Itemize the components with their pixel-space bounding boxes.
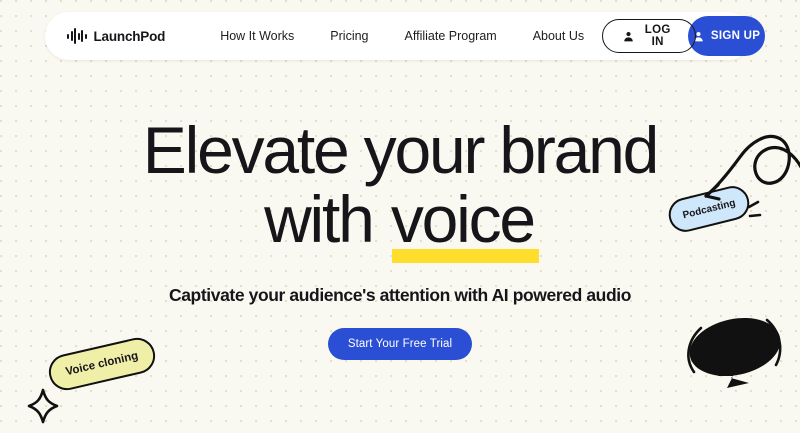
audio-waveform-icon — [67, 28, 87, 44]
nav-link-affiliate-program[interactable]: Affiliate Program — [387, 29, 515, 43]
hero-section: Elevate your brand with voice Captivate … — [0, 118, 800, 360]
headline-line-2-prefix: with — [264, 182, 389, 256]
badge-voice-cloning-label: Voice cloning — [65, 350, 140, 378]
nav-link-how-it-works[interactable]: How It Works — [202, 29, 312, 43]
log-in-button[interactable]: LOG IN — [602, 19, 696, 53]
headline-highlight-word: voice — [389, 187, 536, 252]
brand-name: LaunchPod — [94, 29, 166, 44]
badge-podcasting-label: Podcasting — [682, 197, 737, 221]
start-free-trial-button[interactable]: Start Your Free Trial — [328, 328, 472, 360]
headline-line-1: Elevate your brand — [143, 113, 657, 187]
main-navbar: LaunchPod How It Works Pricing Affiliate… — [45, 12, 752, 60]
sign-up-button[interactable]: SIGN UP — [688, 16, 765, 56]
headline-highlight-text: voice — [391, 182, 534, 256]
nav-links: How It Works Pricing Affiliate Program A… — [202, 29, 602, 43]
log-in-label: LOG IN — [640, 24, 675, 48]
hero-subtitle: Captivate your audience's attention with… — [0, 285, 800, 306]
nav-actions: LOG IN SIGN UP — [602, 16, 765, 56]
sign-up-label: SIGN UP — [711, 30, 760, 43]
brand-logo[interactable]: LaunchPod — [67, 28, 165, 44]
user-icon — [623, 31, 634, 42]
nav-link-pricing[interactable]: Pricing — [312, 29, 386, 43]
nav-link-about-us[interactable]: About Us — [515, 29, 602, 43]
sparkle-star-icon — [29, 390, 57, 422]
